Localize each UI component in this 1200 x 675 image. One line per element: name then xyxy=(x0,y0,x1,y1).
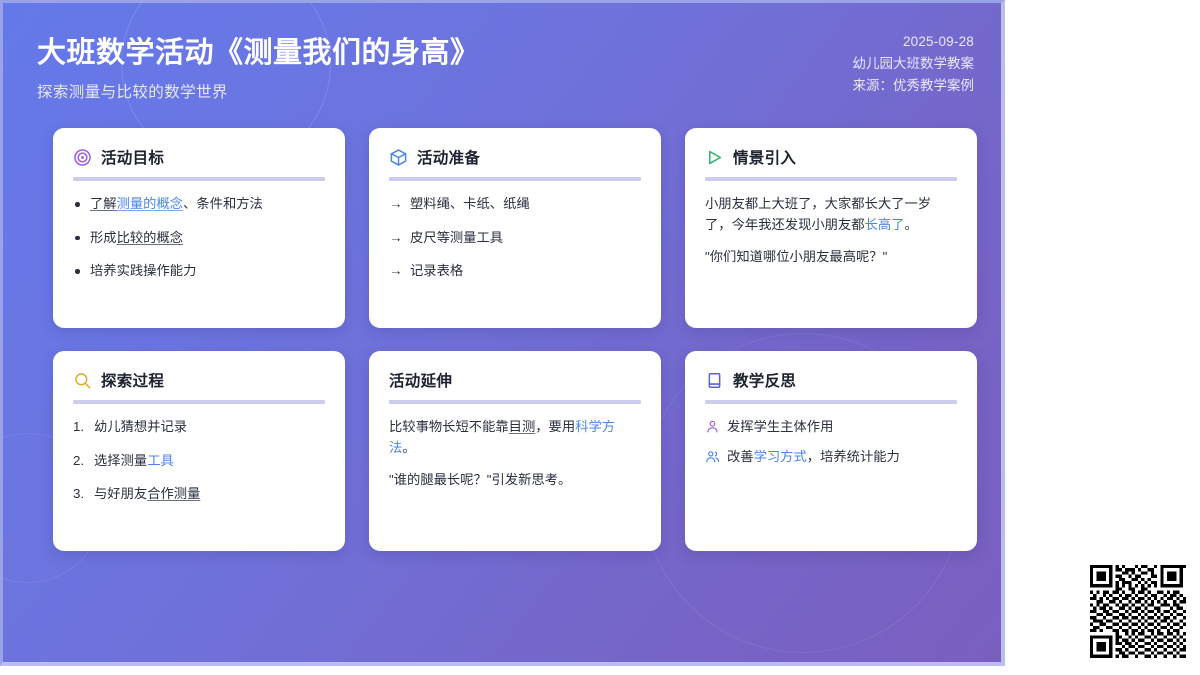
card-title: 情景引入 xyxy=(733,146,796,168)
card-exploration-process[interactable]: 探索过程幼儿猜想并记录选择测量工具与好朋友合作测量 xyxy=(53,351,345,551)
card-divider xyxy=(73,177,325,181)
text-run: 改善 xyxy=(727,449,754,464)
list-item: 发挥学生主体作用 xyxy=(705,417,957,438)
card-list: 了解测量的概念、条件和方法形成比较的概念培养实践操作能力 xyxy=(73,194,325,282)
card-title: 活动准备 xyxy=(417,146,480,168)
list-item: 皮尺等测量工具 xyxy=(389,228,641,249)
card-divider xyxy=(389,400,641,404)
text-run: 幼儿猜想并记录 xyxy=(94,419,187,434)
text-run: ，要用 xyxy=(535,419,575,434)
text-run[interactable]: 学习方式 xyxy=(754,449,807,464)
text-run: 塑料绳、卡纸、纸绳 xyxy=(410,196,530,211)
play-triangle-icon xyxy=(705,148,724,167)
text-run: 合作测量 xyxy=(147,486,200,501)
slide-root: 大班数学活动《测量我们的身高》 探索测量与比较的数学世界 2025-09-28 … xyxy=(0,0,1200,675)
card-title: 探索过程 xyxy=(101,369,164,391)
card-header: 探索过程 xyxy=(73,369,325,391)
card-header: 活动延伸 xyxy=(389,369,641,391)
card-list: 幼儿猜想并记录选择测量工具与好朋友合作测量 xyxy=(73,417,325,505)
card-divider xyxy=(705,400,957,404)
card-body: 发挥学生主体作用改善学习方式，培养统计能力 xyxy=(705,417,957,476)
text-run: 比较事物长短不能靠 xyxy=(389,419,509,434)
card-header: 教学反思 xyxy=(705,369,957,391)
card-divider xyxy=(73,400,325,404)
text-run: 皮尺等测量工具 xyxy=(410,230,503,245)
paragraph: 小朋友都上大班了，大家都长大了一岁了，今年我还发现小朋友都长高了。 xyxy=(705,194,957,235)
card-body: 幼儿猜想并记录选择测量工具与好朋友合作测量 xyxy=(73,417,325,518)
text-run: 培养实践操作能力 xyxy=(90,263,196,278)
text-run[interactable]: 测量的概念 xyxy=(117,196,183,211)
text-run[interactable]: 工具 xyxy=(147,453,174,468)
card-grid: 活动目标了解测量的概念、条件和方法形成比较的概念培养实践操作能力活动准备塑料绳、… xyxy=(53,128,977,551)
text-run: 目测 xyxy=(509,419,536,434)
text-run: ，培养统计能力 xyxy=(807,449,900,464)
card-divider xyxy=(705,177,957,181)
list-item: 选择测量工具 xyxy=(73,451,325,472)
card-list: 发挥学生主体作用改善学习方式，培养统计能力 xyxy=(705,417,957,467)
header-left: 大班数学活动《测量我们的身高》 探索测量与比较的数学世界 xyxy=(37,29,480,102)
qr-code[interactable] xyxy=(1090,565,1186,661)
target-icon xyxy=(73,148,92,167)
text-run: 。 xyxy=(904,217,917,232)
card-scenario-introduction[interactable]: 情景引入小朋友都上大班了，大家都长大了一岁了，今年我还发现小朋友都长高了。"你们… xyxy=(685,128,977,328)
users-icon xyxy=(705,449,720,464)
card-title: 活动延伸 xyxy=(389,369,452,391)
text-run[interactable]: 长高了 xyxy=(865,217,905,232)
paragraph: 比较事物长短不能靠目测，要用科学方法。 xyxy=(389,417,641,458)
text-run: 与好朋友 xyxy=(94,486,147,501)
text-run: 选择测量 xyxy=(94,453,147,468)
list-item: 改善学习方式，培养统计能力 xyxy=(705,447,957,468)
search-icon xyxy=(73,371,92,390)
card-body: 比较事物长短不能靠目测，要用科学方法。"谁的腿最长呢？"引发新思考。 xyxy=(389,417,641,491)
list-item-text: 改善学习方式，培养统计能力 xyxy=(727,447,900,468)
card-body: 塑料绳、卡纸、纸绳皮尺等测量工具记录表格 xyxy=(389,194,641,295)
page-subtitle: 探索测量与比较的数学世界 xyxy=(37,80,480,102)
slide-header: 大班数学活动《测量我们的身高》 探索测量与比较的数学世界 2025-09-28 … xyxy=(3,3,1005,102)
list-item-text: 发挥学生主体作用 xyxy=(727,417,833,438)
header-meta: 2025-09-28 幼儿园大班数学教案 来源：优秀教学案例 xyxy=(853,29,975,97)
card-title: 教学反思 xyxy=(733,369,796,391)
card-body: 小朋友都上大班了，大家都长大了一岁了，今年我还发现小朋友都长高了。"你们知道哪位… xyxy=(705,194,957,268)
page-title: 大班数学活动《测量我们的身高》 xyxy=(37,35,480,71)
meta-source: 来源：优秀教学案例 xyxy=(853,75,975,97)
list-item: 幼儿猜想并记录 xyxy=(73,417,325,438)
card-activity-goals[interactable]: 活动目标了解测量的概念、条件和方法形成比较的概念培养实践操作能力 xyxy=(53,128,345,328)
text-run: 比较的概念 xyxy=(117,230,183,245)
card-header: 活动目标 xyxy=(73,146,325,168)
list-item: 形成比较的概念 xyxy=(73,228,325,249)
meta-date: 2025-09-28 xyxy=(853,31,975,53)
qr-code-canvas xyxy=(1090,565,1186,661)
card-teaching-reflection[interactable]: 教学反思发挥学生主体作用改善学习方式，培养统计能力 xyxy=(685,351,977,551)
meta-category: 幼儿园大班数学教案 xyxy=(853,53,975,75)
text-run: "谁的腿最长呢？"引发新思考。 xyxy=(389,472,571,487)
card-body: 了解测量的概念、条件和方法形成比较的概念培养实践操作能力 xyxy=(73,194,325,295)
card-header: 活动准备 xyxy=(389,146,641,168)
user-icon xyxy=(705,419,720,434)
text-run: 发挥学生主体作用 xyxy=(727,419,833,434)
slide-panel: 大班数学活动《测量我们的身高》 探索测量与比较的数学世界 2025-09-28 … xyxy=(0,0,1005,666)
text-run: 形成 xyxy=(90,230,117,245)
book-icon xyxy=(705,371,724,390)
card-title: 活动目标 xyxy=(101,146,164,168)
box-icon xyxy=(389,148,408,167)
card-activity-preparation[interactable]: 活动准备塑料绳、卡纸、纸绳皮尺等测量工具记录表格 xyxy=(369,128,661,328)
card-list: 塑料绳、卡纸、纸绳皮尺等测量工具记录表格 xyxy=(389,194,641,282)
list-item: 记录表格 xyxy=(389,261,641,282)
card-divider xyxy=(389,177,641,181)
paragraph: "你们知道哪位小朋友最高呢？" xyxy=(705,247,957,268)
card-header: 情景引入 xyxy=(705,146,957,168)
card-activity-extension[interactable]: 活动延伸比较事物长短不能靠目测，要用科学方法。"谁的腿最长呢？"引发新思考。 xyxy=(369,351,661,551)
text-run: 了解 xyxy=(90,196,117,211)
text-run: 、条件和方法 xyxy=(183,196,263,211)
text-run: 。 xyxy=(402,440,415,455)
text-run: 记录表格 xyxy=(410,263,463,278)
paragraph: "谁的腿最长呢？"引发新思考。 xyxy=(389,470,641,491)
list-item: 与好朋友合作测量 xyxy=(73,484,325,505)
list-item: 了解测量的概念、条件和方法 xyxy=(73,194,325,215)
text-run: "你们知道哪位小朋友最高呢？" xyxy=(705,249,887,264)
list-item: 塑料绳、卡纸、纸绳 xyxy=(389,194,641,215)
list-item: 培养实践操作能力 xyxy=(73,261,325,282)
